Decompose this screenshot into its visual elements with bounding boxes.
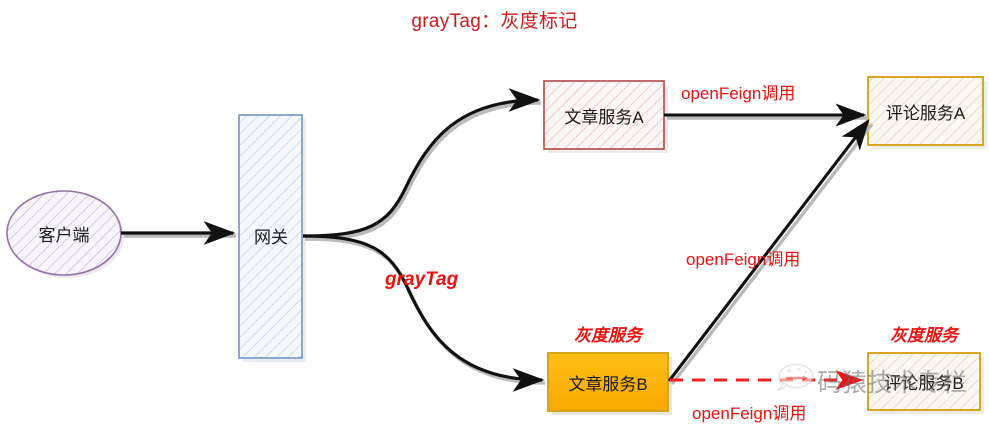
edge-client-to-gateway — [121, 233, 236, 236]
page-title: grayTag：灰度标记 — [0, 6, 989, 33]
edge-gateway-to-article-b — [303, 236, 545, 383]
edge-label-openfeign-top: openFeign调用 — [681, 79, 795, 104]
edge-label-gray-tag: grayTag — [385, 269, 458, 291]
node-article-a[interactable] — [544, 81, 668, 153]
edge-label-openfeign-bottom: openFeign调用 — [692, 399, 806, 424]
node-client[interactable] — [7, 191, 124, 278]
edge-gateway-to-article-a — [303, 100, 541, 239]
node-article-b[interactable] — [548, 353, 672, 415]
node-gateway[interactable] — [239, 115, 306, 362]
node-comment-a[interactable] — [868, 77, 987, 149]
edge-label-openfeign-middle: openFeign调用 — [686, 245, 800, 270]
article-b-gray-badge: 灰度服务 — [574, 321, 642, 346]
node-comment-b[interactable] — [868, 353, 984, 414]
diagram-canvas — [0, 0, 989, 427]
edge-article-a-to-comment-a — [664, 115, 868, 118]
comment-b-gray-badge: 灰度服务 — [890, 321, 958, 346]
